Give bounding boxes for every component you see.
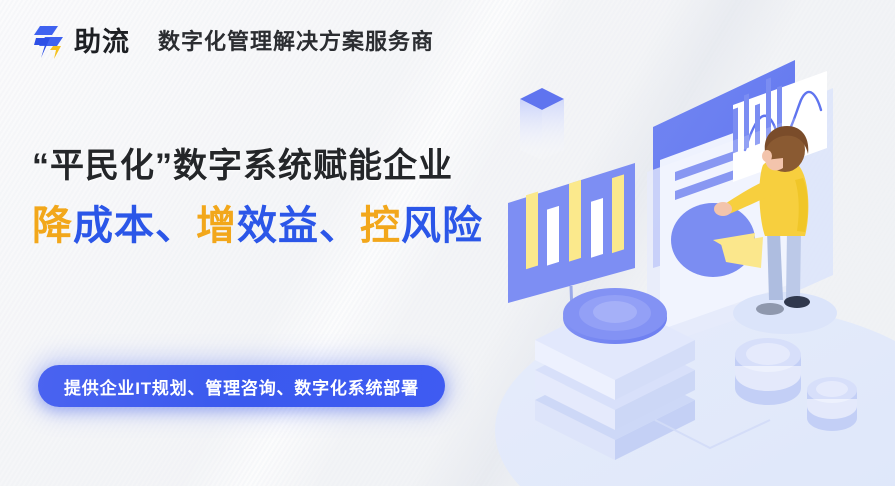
small-cube-icon [520,88,564,160]
hero-illustration [495,0,895,486]
cta-pill-button[interactable]: 提供企业IT规划、管理咨询、数字化系统部署 [38,365,445,407]
headline-part-6: 风险 [401,204,483,248]
headline-part-4: 效益、 [237,204,360,248]
headline-part-5: 控 [360,204,401,248]
brand-name: 助流 [74,29,130,56]
brand-tagline: 数字化管理解决方案服务商 [158,31,434,53]
brand-header: 助流 数字化管理解决方案服务商 [28,22,434,62]
headline-secondary: 降成本、增效益、控风险 [32,202,483,250]
headline-part-3: 增 [196,204,237,248]
coin-stack-small [807,377,857,431]
headline-primary: “平民化”数字系统赋能企业 [32,145,483,188]
coin-stack-large [735,338,801,405]
promo-banner: 助流 数字化管理解决方案服务商 “平民化”数字系统赋能企业 降成本、增效益、控风… [0,0,895,486]
hero-text-block: “平民化”数字系统赋能企业 降成本、增效益、控风险 [32,145,483,250]
headline-part-1: 降 [32,204,73,248]
lightning-bolt-logo-icon [28,22,68,62]
headline-part-2: 成本、 [73,204,196,248]
